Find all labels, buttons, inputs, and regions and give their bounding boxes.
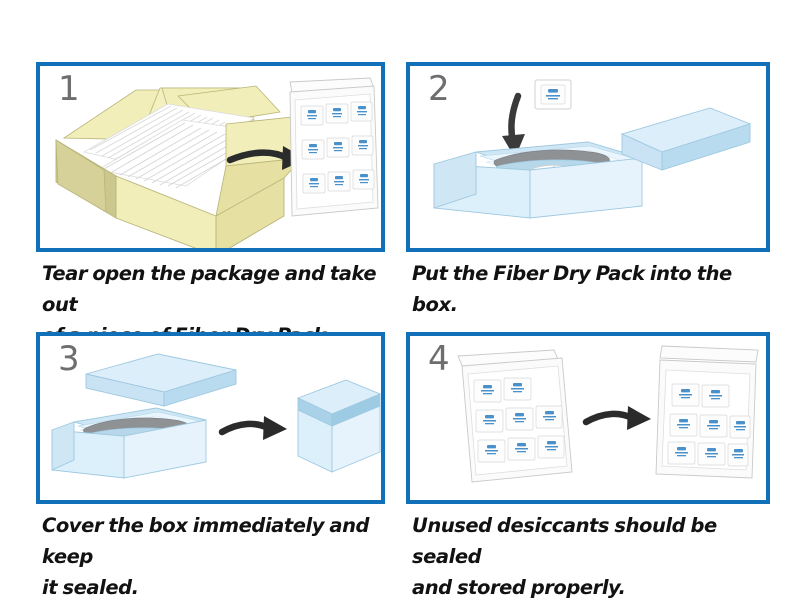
panel-2-figure: 2 (406, 62, 770, 252)
panel-3: 3 Cover the box immediately and keep it … (36, 332, 385, 582)
panel-1-illustration (40, 66, 381, 248)
panel-1: 1 Tear open the package and take out of … (36, 62, 385, 308)
sealed-sachet-bag (656, 346, 758, 478)
panel-2-caption: Put the Fiber Dry Pack into the box. (412, 258, 772, 320)
sachet-bag (290, 78, 378, 216)
instruction-sheet: 1 Tear open the package and take out of … (0, 0, 800, 600)
panel-4-step-number: 4 (428, 342, 450, 376)
panel-2: 2 Put the Fiber Dry Pack into the box. (406, 62, 770, 308)
panel-3-illustration (40, 336, 381, 500)
panel-1-step-number: 1 (58, 72, 80, 106)
panel-2-illustration (410, 66, 766, 248)
arrow-right-icon (586, 406, 651, 430)
panel-3-figure: 3 (36, 332, 385, 504)
panel-4-illustration (410, 336, 766, 500)
arrow-right-icon (222, 416, 287, 440)
panel-4-figure: 4 (406, 332, 770, 504)
panel-4: 4 Unused desiccants should be sealed and… (406, 332, 770, 582)
panel-3-step-number: 3 (58, 342, 80, 376)
panel-4-caption: Unused desiccants should be sealed and s… (412, 510, 772, 603)
single-sachet (535, 80, 571, 109)
panel-3-caption: Cover the box immediately and keep it se… (42, 510, 387, 603)
panel-1-figure: 1 (36, 62, 385, 252)
open-sachet-bag (458, 350, 572, 482)
panel-2-step-number: 2 (428, 72, 450, 106)
